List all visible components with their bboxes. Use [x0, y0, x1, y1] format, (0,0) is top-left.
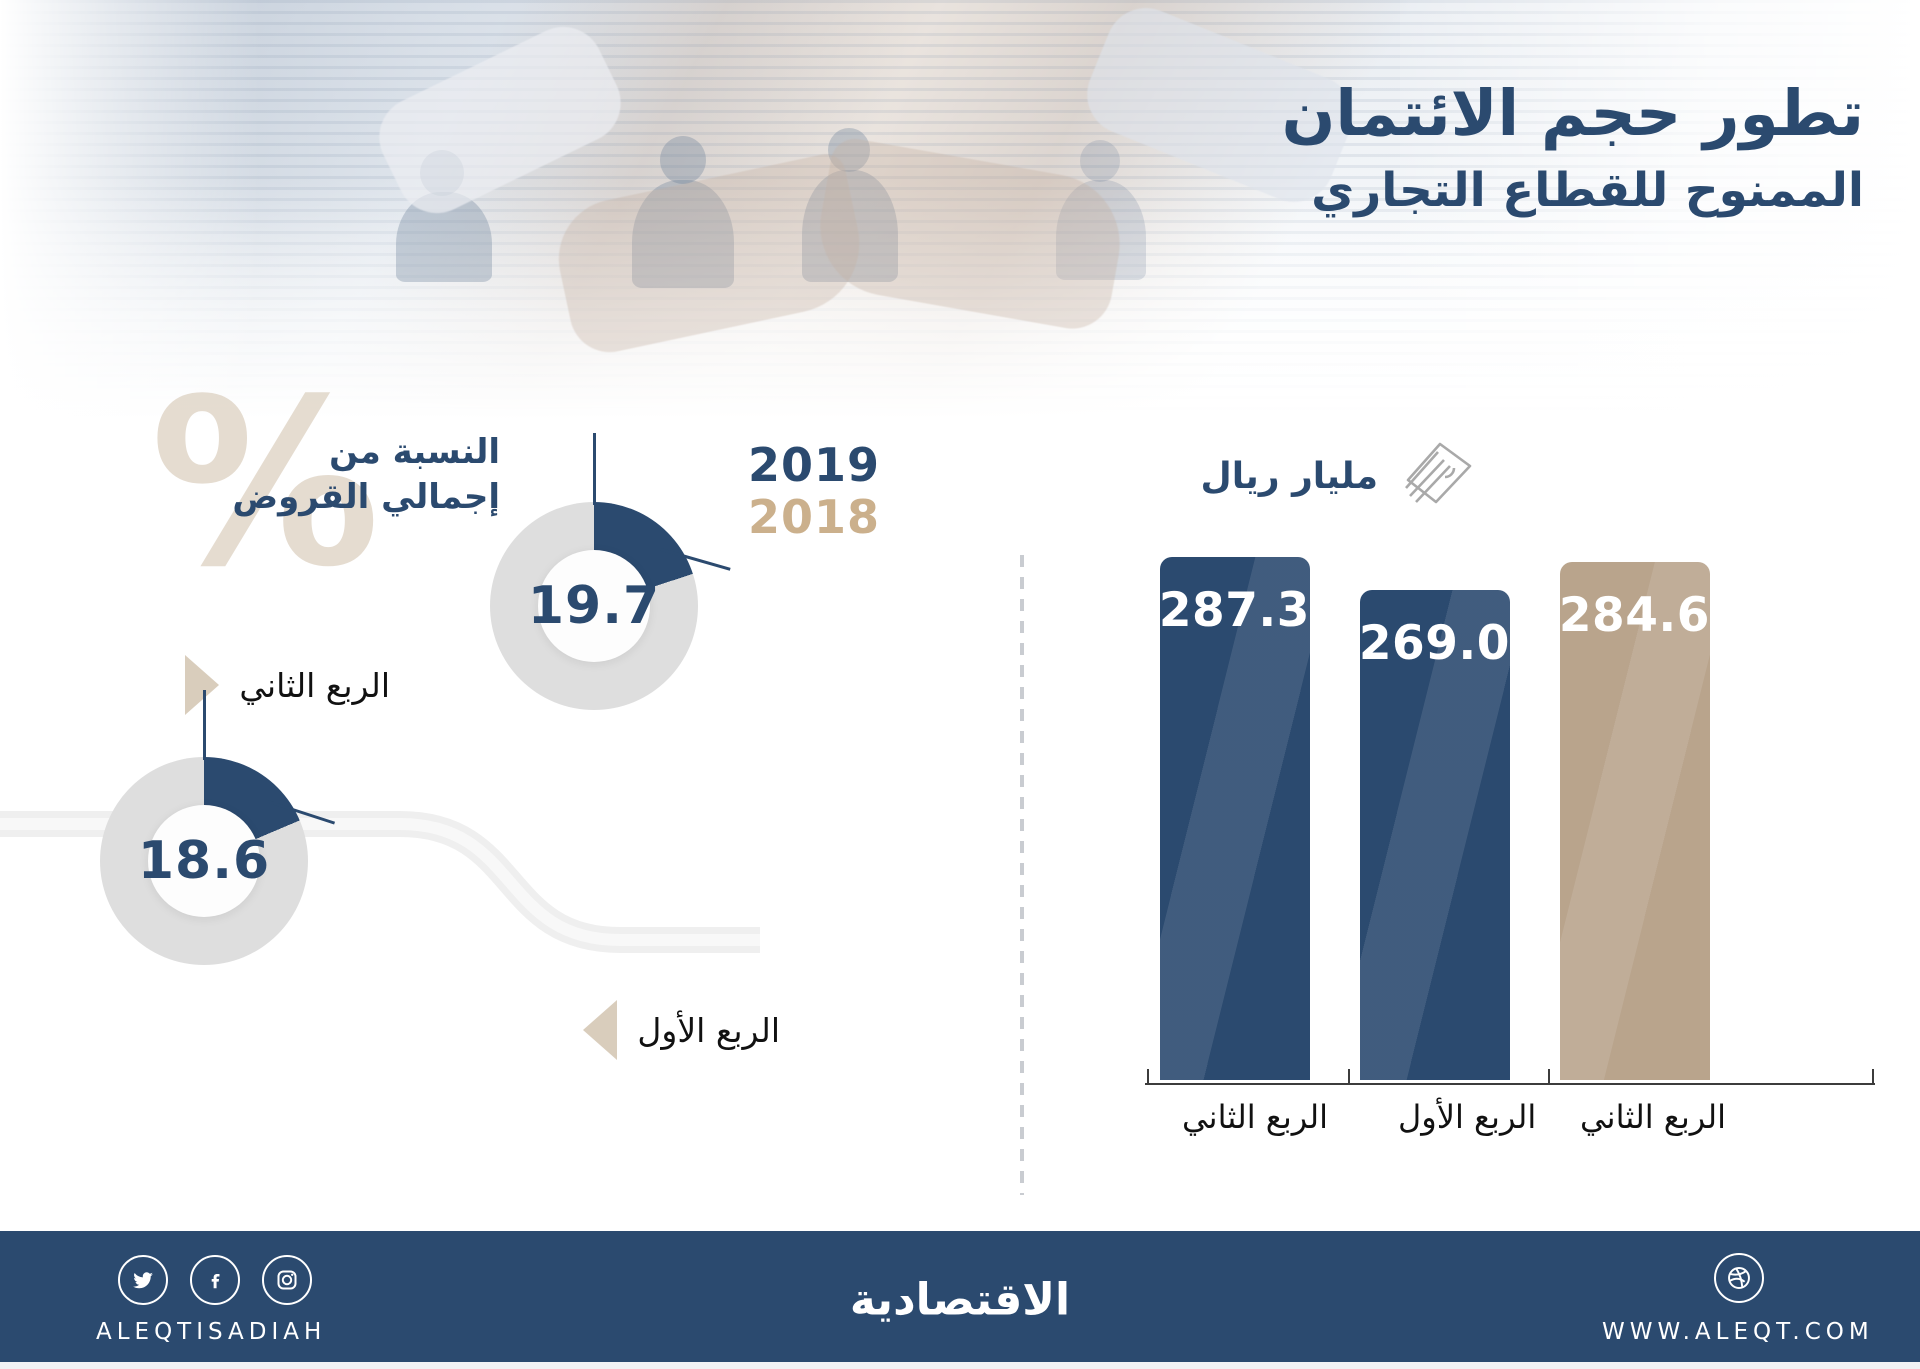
axis-category-first-quarter-2019: الربع الأول — [1398, 1098, 1536, 1136]
dribbble-icon[interactable] — [1714, 1253, 1764, 1303]
percent-caption: النسبة من إجمالي القروض — [140, 430, 500, 520]
axis-tick — [1147, 1069, 1149, 1085]
bar-second-quarter-2018: 284.6 — [1560, 562, 1710, 1080]
axis-category-second-quarter-2018: الربع الثاني — [1580, 1098, 1726, 1136]
donut-hole: 19.7 — [538, 550, 650, 662]
twitter-icon[interactable] — [118, 1255, 168, 1305]
donut-needle — [203, 690, 206, 760]
vertical-dotted-divider — [1020, 555, 1024, 1195]
legend-item-2018: 2018 — [748, 492, 880, 544]
instagram-icon[interactable] — [262, 1255, 312, 1305]
bar-first-quarter-2019: 269.0 — [1360, 590, 1510, 1080]
axis-tick — [1348, 1069, 1350, 1085]
donut-value-second-quarter: 19.7 — [528, 576, 660, 636]
person-silhouette-head — [660, 136, 706, 184]
facebook-icon[interactable] — [190, 1255, 240, 1305]
donut-chart-second-quarter: 19.7 — [490, 502, 698, 710]
quarter-label-second: الربع الثاني — [239, 666, 390, 705]
social-links — [118, 1255, 312, 1305]
axis-tick — [1872, 1069, 1874, 1085]
publisher-logo: الاقتصادية — [850, 1275, 1070, 1326]
infographic-page: تطور حجم الائتمان الممنوح للقطاع التجاري… — [0, 0, 1920, 1369]
percent-caption-line-1: النسبة من — [140, 430, 500, 475]
legend-item-2019: 2019 — [748, 440, 880, 492]
bar-chart-axis — [1145, 1083, 1875, 1085]
donut-needle — [593, 433, 596, 505]
chart-legend: 2019 2018 — [748, 440, 880, 543]
donut-chart-first-quarter: 18.6 — [100, 757, 308, 965]
website-url[interactable]: WWW.ALEQT.COM — [1602, 1319, 1874, 1345]
bar-value-label: 269.0 — [1360, 616, 1510, 671]
bar-value-label: 287.3 — [1160, 583, 1310, 638]
footer-bottom-rule — [0, 1362, 1920, 1369]
money-fan-icon — [1396, 440, 1488, 512]
social-handle: ALEQTISADIAH — [96, 1319, 326, 1345]
donut-value-first-quarter: 18.6 — [138, 831, 270, 891]
footer-bar: ALEQTISADIAH الاقتصادية WWW.ALEQT.COM — [0, 1231, 1920, 1369]
unit-label-group: مليار ريال — [1201, 440, 1488, 512]
title-line-1: تطور حجم الائتمان — [1104, 78, 1864, 150]
bar-second-quarter-2019: 287.3 — [1160, 557, 1310, 1080]
bar-value-label: 284.6 — [1560, 588, 1710, 643]
donut-hole: 18.6 — [148, 805, 260, 917]
unit-label: مليار ريال — [1201, 456, 1378, 497]
title-line-2: الممنوح للقطاع التجاري — [1104, 164, 1864, 218]
bar-chart: 287.3 269.0 284.6 — [1160, 520, 1860, 1080]
quarter-row-first: الربع الأول — [583, 1000, 780, 1060]
percent-caption-line-2: إجمالي القروض — [140, 475, 500, 520]
page-title: تطور حجم الائتمان الممنوح للقطاع التجاري — [1104, 78, 1864, 217]
triangle-left-icon — [583, 1000, 617, 1060]
axis-category-second-quarter-2019: الربع الثاني — [1182, 1098, 1328, 1136]
axis-tick — [1548, 1069, 1550, 1085]
quarter-row-second: الربع الثاني — [185, 655, 390, 715]
quarter-label-first: الربع الأول — [637, 1011, 780, 1050]
